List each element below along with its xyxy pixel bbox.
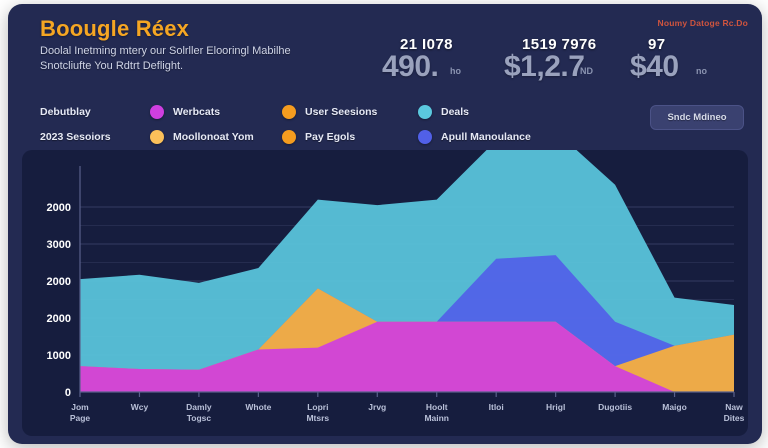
- legend-item-label: Apull Manoulance: [441, 131, 531, 143]
- stat-value: 490.: [382, 50, 438, 84]
- svg-text:Naw: Naw: [725, 402, 743, 412]
- stat-suffix: ND: [580, 66, 593, 76]
- svg-text:Jom: Jom: [71, 402, 89, 412]
- dashboard-card: Boougle Réex Doolal Inetming mtery our S…: [8, 4, 762, 444]
- svg-text:2000: 2000: [47, 313, 71, 325]
- page-title: Boougle Réex: [40, 16, 189, 42]
- svg-text:Togsc: Togsc: [187, 413, 212, 423]
- app-root: Boougle Réex Doolal Inetming mtery our S…: [0, 0, 768, 448]
- legend-item-label: 2023 Sesoiors: [40, 131, 111, 143]
- stat-suffix: no: [696, 66, 707, 76]
- corner-note: Noumy Datoge Rc.Do: [658, 18, 749, 28]
- svg-text:Wcy: Wcy: [131, 402, 149, 412]
- svg-text:0: 0: [65, 387, 71, 399]
- legend-item-label: Deals: [441, 106, 469, 118]
- stat-card: $40 97 no: [626, 34, 754, 90]
- svg-text:Lopri: Lopri: [307, 402, 328, 412]
- legend-item-label: Werbcats: [173, 106, 220, 118]
- legend-item[interactable]: 2023 Sesoiors: [40, 127, 111, 147]
- legend-item[interactable]: Pay Egols: [282, 127, 355, 147]
- legend-item-label: Moollonoat Yom: [173, 131, 254, 143]
- chart-legend: Debutblay 2023 Sesoiors Werbcats Moollon…: [40, 102, 640, 150]
- legend-item[interactable]: Apull Manoulance: [418, 127, 531, 147]
- legend-color-dot: [418, 105, 432, 119]
- chart-panel: 010002000200030002000JomPageWcyDamlyTogs…: [22, 150, 748, 436]
- svg-text:Hrigl: Hrigl: [546, 402, 565, 412]
- legend-item[interactable]: User Seesions: [282, 102, 377, 122]
- svg-text:3000: 3000: [47, 239, 71, 251]
- stat-value: $1,2.7: [504, 50, 584, 84]
- legend-color-dot: [418, 130, 432, 144]
- page-subtitle: Doolal Inetming mtery our Solrller Eloor…: [40, 44, 340, 74]
- svg-text:Damly: Damly: [186, 402, 212, 412]
- stacked-area-chart[interactable]: 010002000200030002000JomPageWcyDamlyTogs…: [22, 150, 748, 436]
- legend-item[interactable]: Deals: [418, 102, 469, 122]
- svg-text:Dugotiis: Dugotiis: [598, 402, 632, 412]
- legend-color-dot: [150, 105, 164, 119]
- legend-item-label: Pay Egols: [305, 131, 355, 143]
- legend-item-label: User Seesions: [305, 106, 377, 118]
- send-metrics-button[interactable]: Sndc Mdineo: [650, 105, 744, 130]
- stat-overlay: 97: [648, 36, 666, 53]
- legend-color-dot: [282, 130, 296, 144]
- legend-item[interactable]: Werbcats: [150, 102, 220, 122]
- stat-overlay: 21 I078: [400, 36, 453, 53]
- svg-text:2000: 2000: [47, 202, 71, 214]
- svg-text:2000: 2000: [47, 276, 71, 288]
- stats-row: 490. 21 I078 ho $1,2.7 1519 7976 ND $40 …: [368, 34, 748, 90]
- svg-text:1000: 1000: [47, 350, 71, 362]
- legend-item-label: Debutblay: [40, 106, 91, 118]
- stat-suffix: ho: [450, 66, 461, 76]
- svg-text:Whote: Whote: [245, 402, 271, 412]
- legend-color-dot: [150, 130, 164, 144]
- stat-card: $1,2.7 1519 7976 ND: [500, 34, 628, 90]
- stat-overlay: 1519 7976: [522, 36, 597, 53]
- stat-card: 490. 21 I078 ho: [378, 34, 506, 90]
- legend-item[interactable]: Debutblay: [40, 102, 91, 122]
- svg-text:Dites: Dites: [724, 413, 745, 423]
- svg-text:Mainn: Mainn: [424, 413, 449, 423]
- svg-text:Maigo: Maigo: [662, 402, 687, 412]
- svg-text:Hoolt: Hoolt: [426, 402, 448, 412]
- svg-text:Mtsrs: Mtsrs: [306, 413, 329, 423]
- svg-text:Itloi: Itloi: [489, 402, 504, 412]
- stat-value: $40: [630, 50, 679, 84]
- svg-text:Jrvg: Jrvg: [368, 402, 386, 412]
- legend-item[interactable]: Moollonoat Yom: [150, 127, 254, 147]
- svg-text:Page: Page: [70, 413, 91, 423]
- legend-color-dot: [282, 105, 296, 119]
- card-header: Boougle Réex Doolal Inetming mtery our S…: [8, 4, 762, 96]
